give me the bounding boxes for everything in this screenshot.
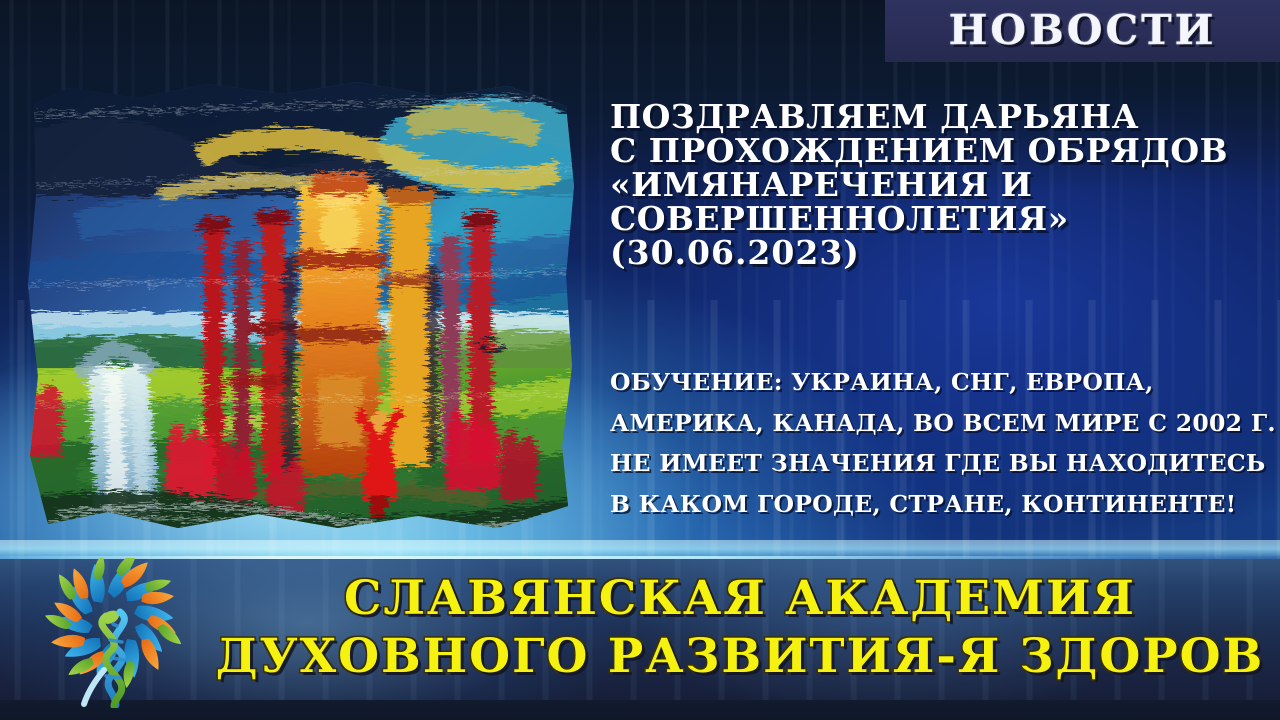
- artwork-image: [18, 76, 584, 538]
- body-line-4: В КАКОМ ГОРОДЕ, СТРАНЕ, КОНТИНЕНТЕ!: [610, 484, 1270, 525]
- body-line-1: ОБУЧЕНИЕ: УКРАИНА, СНГ, ЕВРОПА,: [610, 362, 1270, 403]
- news-banner-label: НОВОСТИ: [885, 0, 1280, 62]
- description-text: ОБУЧЕНИЕ: УКРАИНА, СНГ, ЕВРОПА, АМЕРИКА,…: [610, 362, 1270, 525]
- headline-date: (30.06.2023): [610, 236, 1270, 270]
- tree-of-life-dna-icon: [44, 558, 192, 708]
- footer-bottom-strip: [0, 700, 1280, 720]
- page-title: ПОЗДРАВЛЯЕМ ДАРЬЯНА С ПРОХОЖДЕНИЕМ ОБРЯД…: [610, 100, 1270, 270]
- brand-line-2: ДУХОВНОГО РАЗВИТИЯ-Я ЗДОРОВ: [200, 628, 1280, 686]
- headline-line-1: ПОЗДРАВЛЯЕМ ДАРЬЯНА: [610, 100, 1270, 134]
- body-line-3: НЕ ИМЕЕТ ЗНАЧЕНИЯ ГДЕ ВЫ НАХОДИТЕСЬ: [610, 443, 1270, 484]
- body-line-2: АМЕРИКА, КАНАДА, ВО ВСЕМ МИРЕ С 2002 Г.: [610, 403, 1270, 444]
- academy-brand-name: СЛАВЯНСКАЯ АКАДЕМИЯ ДУХОВНОГО РАЗВИТИЯ-Я…: [200, 570, 1280, 687]
- artwork-canvas: [18, 76, 584, 538]
- brand-line-1: СЛАВЯНСКАЯ АКАДЕМИЯ: [200, 570, 1280, 628]
- slide-canvas: НОВОСТИ: [0, 0, 1280, 720]
- headline-line-3: «ИМЯНАРЕЧЕНИЯ И: [610, 168, 1270, 202]
- headline-line-2: С ПРОХОЖДЕНИЕМ ОБРЯДОВ: [610, 134, 1270, 168]
- headline-line-4: СОВЕРШЕННОЛЕТИЯ»: [610, 202, 1270, 236]
